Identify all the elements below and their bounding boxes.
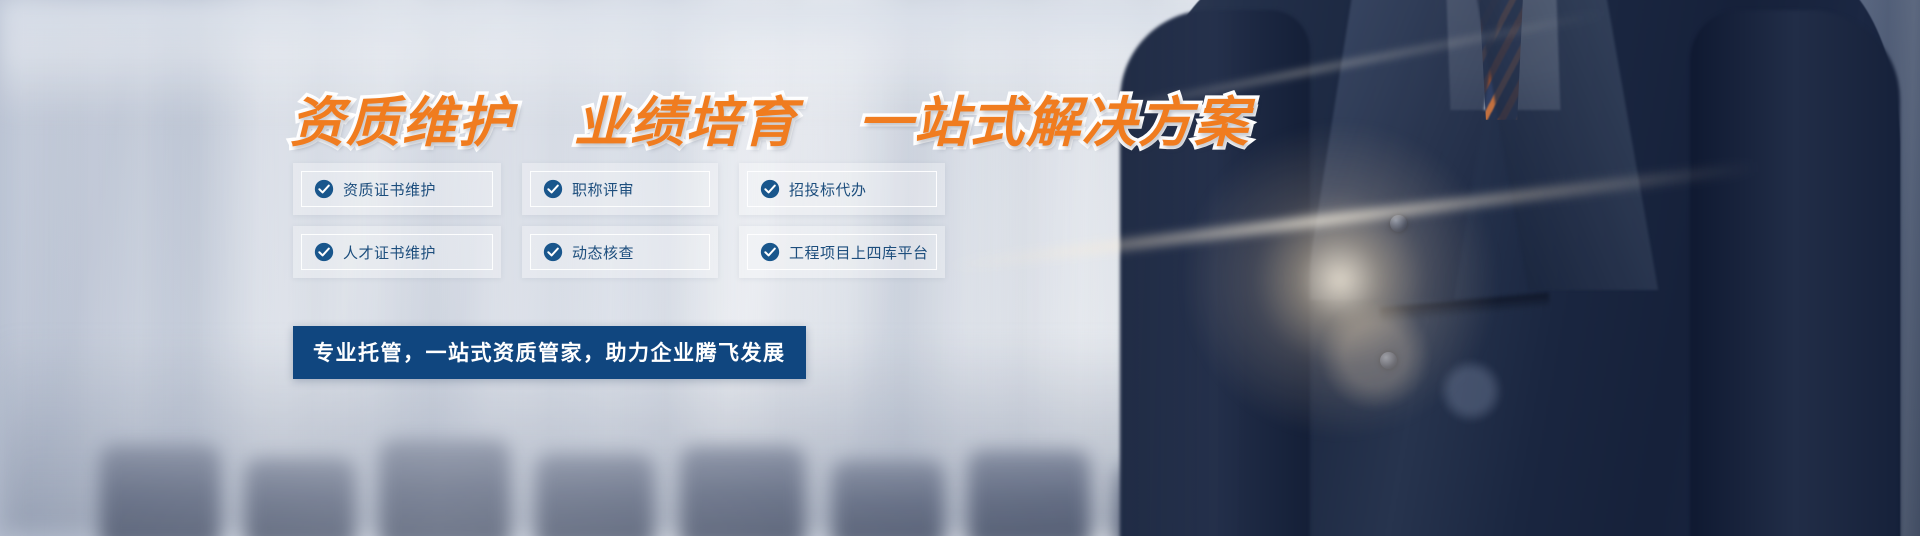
headline-part-2: 业绩培育: [574, 93, 798, 153]
banner-headline: 资质维护 业绩培育 一站式解决方案: [290, 78, 1250, 157]
feature-card-zizhi-zhengshu-weihu[interactable]: 资质证书维护: [293, 163, 501, 215]
check-circle-icon: [314, 179, 334, 199]
feature-card-inner: 工程项目上四库平台: [747, 234, 937, 270]
feature-grid: 资质证书维护 职称评审: [293, 163, 945, 289]
feature-card-zhicheng-pingshen[interactable]: 职称评审: [522, 163, 718, 215]
check-circle-icon: [314, 242, 334, 262]
feature-card-rencai-zhengshu-weihu[interactable]: 人才证书维护: [293, 226, 501, 278]
feature-card-inner: 动态核查: [530, 234, 710, 270]
feature-label: 招投标代办: [789, 179, 867, 200]
feature-label: 资质证书维护: [343, 179, 436, 200]
feature-label: 动态核查: [572, 242, 634, 263]
feature-card-inner: 职称评审: [530, 171, 710, 207]
check-circle-icon: [543, 179, 563, 199]
headline-part-1: 资质维护: [290, 93, 514, 153]
feature-card-dongtai-hecha[interactable]: 动态核查: [522, 226, 718, 278]
feature-card-zhaotoubiao-daiban[interactable]: 招投标代办: [739, 163, 945, 215]
feature-card-gongcheng-xiangmu-sikupingtai[interactable]: 工程项目上四库平台: [739, 226, 945, 278]
feature-card-inner: 资质证书维护: [301, 171, 493, 207]
feature-label: 职称评审: [572, 179, 634, 200]
feature-row-1: 资质证书维护 职称评审: [293, 163, 945, 215]
feature-label: 人才证书维护: [343, 242, 436, 263]
promo-banner: 资质维护 业绩培育 一站式解决方案 资质证书维护: [0, 0, 1920, 536]
feature-label: 工程项目上四库平台: [789, 242, 929, 263]
check-circle-icon: [543, 242, 563, 262]
check-circle-icon: [760, 179, 780, 199]
check-circle-icon: [760, 242, 780, 262]
headline-part-3: 一站式解决方案: [858, 93, 1250, 153]
feature-card-inner: 人才证书维护: [301, 234, 493, 270]
banner-content: 资质维护 业绩培育 一站式解决方案 资质证书维护: [0, 0, 1920, 536]
banner-tagline: 专业托管，一站式资质管家，助力企业腾飞发展: [293, 326, 806, 379]
feature-card-inner: 招投标代办: [747, 171, 937, 207]
feature-row-2: 人才证书维护 动态核查: [293, 226, 945, 278]
